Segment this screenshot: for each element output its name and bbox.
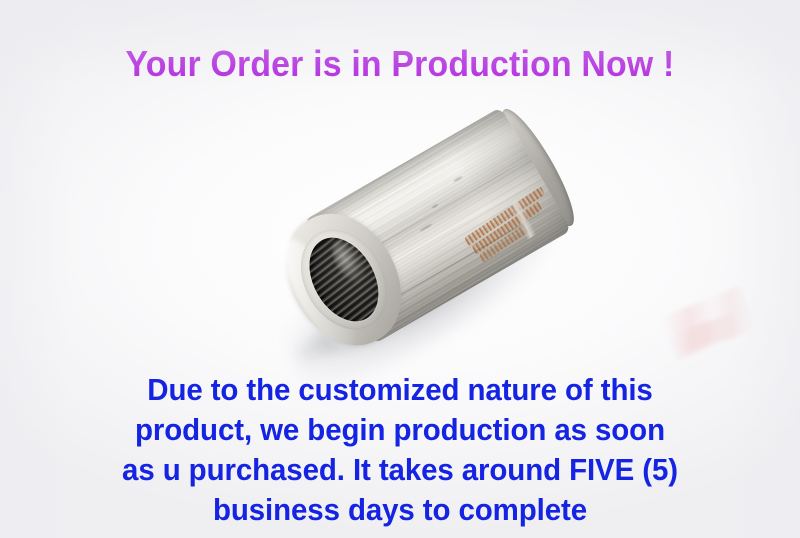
- stamped-marking-gap: [510, 198, 537, 240]
- stamped-marking-line: [479, 223, 529, 262]
- notice-line-2: product, we begin production as soon: [20, 410, 780, 450]
- notice-line-4: business days to complete: [20, 490, 780, 530]
- stamped-marking-line: [465, 186, 545, 246]
- product-photo: [268, 112, 580, 360]
- background-scuff-mark-2: [674, 313, 742, 354]
- surface-nick: [453, 176, 463, 183]
- surface-nick: [431, 204, 438, 209]
- stamped-marking-line: [472, 201, 542, 254]
- surface-nick: [419, 223, 432, 232]
- page-title: Your Order is in Production Now !: [24, 42, 776, 86]
- promo-banner: Your Order is in Production Now !: [0, 0, 800, 538]
- notice-line-1: Due to the customized nature of this: [20, 370, 780, 410]
- background-scuff-mark: [661, 286, 758, 361]
- notice-line-3: as u purchased. It takes around FIVE (5): [20, 450, 780, 490]
- production-notice: Due to the customized nature of this pro…: [20, 370, 780, 530]
